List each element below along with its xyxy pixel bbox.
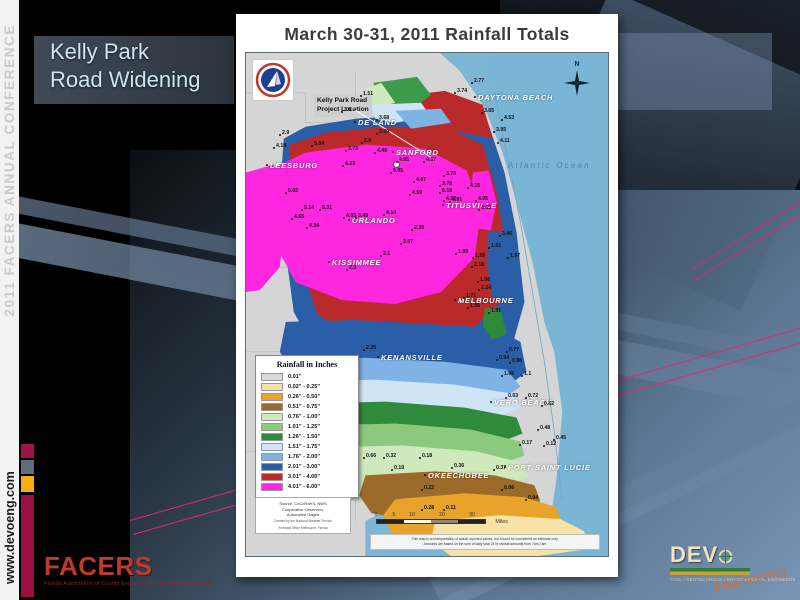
- station-dot: [477, 281, 479, 283]
- city-marker-dot: [442, 204, 444, 206]
- rainfall-value: 1.96: [480, 277, 490, 283]
- rainfall-value: 3.79: [446, 171, 456, 177]
- station-dot: [506, 351, 508, 353]
- scale-bar-graphic: [376, 519, 486, 524]
- station-dot: [346, 269, 348, 271]
- legend-row: 0.01": [261, 372, 353, 381]
- station-dot: [501, 375, 503, 377]
- station-dot: [411, 229, 413, 231]
- city-marker-dot: [454, 299, 456, 301]
- figure-title: March 30-31, 2011 Rainfall Totals: [245, 24, 609, 45]
- legend-swatch: [261, 403, 283, 411]
- rainfall-value: 1.06: [504, 371, 514, 377]
- legend-label: 0.26" - 0.50": [288, 394, 320, 400]
- disclaimer-line-2: Amounts are based on the sum of daily to…: [374, 542, 596, 547]
- legend-swatch: [261, 383, 283, 391]
- rainfall-value: 4.65: [294, 214, 304, 220]
- station-dot: [507, 257, 509, 259]
- rainfall-value: 0.66: [366, 453, 376, 459]
- station-dot: [391, 469, 393, 471]
- rainfall-value: 1.97: [510, 253, 520, 259]
- rail-accent-bar: [21, 495, 34, 597]
- station-dot: [454, 92, 456, 94]
- devo-logo: DEV CIVIL / GEOTECHNICAL / ENVIRONMENTAL…: [670, 544, 786, 590]
- rainfall-value: 0.32: [386, 453, 396, 459]
- station-dot: [443, 175, 445, 177]
- legend-row: 4.01" - 6.00": [261, 482, 353, 491]
- legend-row: 1.26" - 1.50": [261, 432, 353, 441]
- legend-label: 0.01": [288, 374, 302, 380]
- station-dot: [443, 509, 445, 511]
- station-dot: [285, 192, 287, 194]
- legend-swatch: [261, 423, 283, 431]
- legend-swatch: [261, 373, 283, 381]
- city-marker-dot: [348, 219, 350, 221]
- rainfall-value: 0.17: [522, 440, 532, 446]
- source-line-3: Automated Gages: [259, 512, 347, 517]
- rainfall-value: 0.62: [544, 401, 554, 407]
- rainfall-value: 0.48: [540, 425, 550, 431]
- station-dot: [279, 134, 281, 136]
- rainfall-value: 1.51: [363, 91, 373, 97]
- station-dot: [488, 247, 490, 249]
- legend-label: 2.01" - 3.00": [288, 464, 320, 470]
- compass-rose-icon: N: [560, 61, 594, 103]
- city-marker-dot: [392, 151, 394, 153]
- rainfall-value: 3.73: [348, 146, 358, 152]
- rainfall-value: 2.9: [282, 130, 289, 136]
- station-dot: [467, 307, 469, 309]
- station-dot: [421, 509, 423, 511]
- rail-swatch-amber: [21, 476, 34, 492]
- station-dot: [541, 405, 543, 407]
- rainfall-value: 4.15: [470, 183, 480, 189]
- legend-row: 0.76" - 1.00": [261, 412, 353, 421]
- station-dot: [501, 119, 503, 121]
- rainfall-value: 5.31: [322, 205, 332, 211]
- scale-tick: 5: [393, 512, 396, 518]
- facers-wordmark: FACERS: [44, 553, 212, 579]
- rainfall-value: 1.95: [475, 253, 485, 259]
- station-dot: [419, 457, 421, 459]
- station-dot: [451, 467, 453, 469]
- rainfall-value: 0.11: [446, 505, 456, 511]
- station-dot: [360, 95, 362, 97]
- station-dot: [471, 82, 473, 84]
- rainfall-value: 2.1: [383, 251, 390, 257]
- source-credit-2: Forecast Office Melbourne, Florida: [259, 526, 347, 530]
- legend-swatch: [261, 463, 283, 471]
- rainfall-value: 2.18: [474, 262, 484, 268]
- legend-label: 1.51" - 1.75": [288, 444, 320, 450]
- rainfall-value: 4.11: [500, 138, 510, 144]
- legend-label: 1.76" - 2.00": [288, 454, 320, 460]
- map-disclaimer: This map is an interpretation of actual …: [370, 534, 600, 550]
- rainfall-value: 3.78: [442, 181, 452, 187]
- legend-row: 0.02" - 0.25": [261, 382, 353, 391]
- station-dot: [301, 209, 303, 211]
- city-marker-dot: [377, 356, 379, 358]
- rainfall-value: 4.57: [426, 157, 436, 163]
- rainfall-value: 0.94: [499, 355, 509, 361]
- rainfall-value: 4.19: [276, 143, 286, 149]
- rainfall-value: 1.61: [491, 243, 501, 249]
- devo-wordmark-text: DEV: [670, 542, 718, 567]
- rainfall-value: 0.37: [496, 465, 506, 471]
- station-dot: [342, 165, 344, 167]
- legend-label: 4.01" - 6.00": [288, 484, 320, 490]
- rainfall-value: 4.05: [399, 157, 409, 163]
- station-dot: [443, 200, 445, 202]
- station-dot: [273, 147, 275, 149]
- station-dot: [525, 499, 527, 501]
- scale-tick: 10: [409, 512, 415, 518]
- station-dot: [345, 150, 347, 152]
- legend-swatch: [261, 433, 283, 441]
- station-dot: [355, 217, 357, 219]
- legend-row: 0.26" - 0.50": [261, 392, 353, 401]
- rainfall-value: 3.49: [358, 213, 368, 219]
- station-dot: [376, 133, 378, 135]
- station-dot: [499, 235, 501, 237]
- station-dot: [376, 119, 378, 121]
- rainfall-value: 4.34: [309, 223, 319, 229]
- rainfall-value: 4.53: [504, 115, 514, 121]
- rainfall-value: 3.59: [379, 129, 389, 135]
- station-dot: [383, 457, 385, 459]
- rainfall-value: 3.9: [364, 138, 371, 144]
- station-dot: [493, 131, 495, 133]
- rainfall-value: 4.23: [345, 161, 355, 167]
- city-marker-dot: [328, 261, 330, 263]
- scale-tick: 30: [469, 512, 475, 518]
- legend-rows: 0.01"0.02" - 0.25"0.26" - 0.50"0.51" - 0…: [261, 372, 353, 491]
- rainfall-value: 0.19: [394, 465, 404, 471]
- rainfall-value: 4.14: [386, 210, 396, 216]
- rainfall-value: 2.39: [414, 225, 424, 231]
- station-dot: [475, 200, 477, 202]
- legend-swatch: [261, 393, 283, 401]
- facers-subtitle: Florida Association of County Engineers …: [44, 581, 212, 587]
- station-dot: [509, 362, 511, 364]
- station-dot: [525, 397, 527, 399]
- legend-label: 1.01" - 1.25": [288, 424, 320, 430]
- station-dot: [481, 112, 483, 114]
- legend-swatch: [261, 413, 283, 421]
- rainfall-value: 0.45: [556, 435, 566, 441]
- station-dot: [463, 297, 465, 299]
- station-dot: [537, 429, 539, 431]
- rainfall-value: 1.99: [458, 249, 468, 255]
- rainfall-value: 0.04: [528, 495, 538, 501]
- legend-row: 3.01" - 4.00": [261, 472, 353, 481]
- rainfall-value: 3.95: [496, 127, 506, 133]
- city-label: PORT SAINT LUCIE: [508, 463, 591, 472]
- legend-label: 0.02" - 0.25": [288, 384, 320, 390]
- rail-swatch-gray: [21, 460, 34, 474]
- rainfall-value: 5.14: [304, 205, 314, 211]
- station-dot: [439, 192, 441, 194]
- station-dot: [467, 187, 469, 189]
- city-label: SANFORD: [396, 148, 439, 157]
- scale-segment-1: [377, 520, 404, 523]
- scale-segment-2: [404, 520, 431, 523]
- facers-logo: FACERS Florida Association of County Eng…: [44, 553, 212, 587]
- ocean-label: Atlantic Ocean: [508, 161, 591, 170]
- rainfall-value: 0.96: [512, 358, 522, 364]
- station-dot: [472, 257, 474, 259]
- legend-swatch: [261, 453, 283, 461]
- station-dot: [343, 217, 345, 219]
- rainfall-value: 3.65: [484, 108, 494, 114]
- station-dot: [505, 397, 507, 399]
- compass-north-label: N: [574, 61, 579, 68]
- station-dot: [521, 375, 523, 377]
- legend-row: 0.51" - 0.75": [261, 402, 353, 411]
- station-dot: [306, 227, 308, 229]
- station-dot: [519, 444, 521, 446]
- legend-swatch: [261, 443, 283, 451]
- rainfall-value: 0.06: [504, 485, 514, 491]
- station-dot: [409, 194, 411, 196]
- station-dot: [439, 185, 441, 187]
- map-canvas[interactable]: N Atlantic Ocean Kelly Park Road Project…: [245, 52, 609, 557]
- station-dot: [341, 111, 343, 113]
- city-label: KISSIMMEE: [332, 258, 381, 267]
- legend-label: 0.76" - 1.00": [288, 414, 320, 420]
- station-dot: [319, 209, 321, 211]
- rainfall-value: 1.1: [524, 371, 531, 377]
- rainfall-value: 0.22: [424, 485, 434, 491]
- city-marker-dot: [490, 401, 492, 403]
- station-dot: [383, 214, 385, 216]
- rainfall-value: 2.77: [474, 78, 484, 84]
- rainfall-value: 3.8: [344, 107, 351, 113]
- rainfall-value: 4.49: [377, 148, 387, 154]
- rainfall-value: 1.56: [470, 303, 480, 309]
- legend-row: 1.76" - 2.00": [261, 452, 353, 461]
- rainfall-value: 2.3: [349, 265, 356, 271]
- rainfall-value: 4.63: [481, 205, 491, 211]
- legend-row: 1.01" - 1.25": [261, 422, 353, 431]
- rainfall-value: 3.96: [502, 231, 512, 237]
- map-legend: Rainfall in Inches 0.01"0.02" - 0.25"0.2…: [255, 355, 359, 498]
- rainfall-value: 0.36: [454, 463, 464, 469]
- station-dot: [488, 312, 490, 314]
- station-dot: [421, 489, 423, 491]
- scale-tick: 0: [375, 512, 378, 518]
- legend-label: 1.26" - 1.50": [288, 434, 320, 440]
- website-label[interactable]: www.devoeng.com: [0, 406, 19, 586]
- rainfall-value: 0.12: [546, 441, 556, 447]
- rainfall-value: 0.18: [422, 453, 432, 459]
- rainfall-value: 0.63: [508, 393, 518, 399]
- station-dot: [390, 172, 392, 174]
- map-scale-bar: 05102030 Miles: [376, 512, 486, 524]
- station-dot: [311, 145, 313, 147]
- decorative-rectangle-upper-right: [609, 33, 772, 110]
- station-dot: [478, 289, 480, 291]
- rainfall-value: 5.05: [393, 168, 403, 174]
- rainfall-value: 0.72: [528, 393, 538, 399]
- station-dot: [400, 243, 402, 245]
- station-dot: [449, 201, 451, 203]
- station-dot: [291, 218, 293, 220]
- station-dot: [543, 445, 545, 447]
- rainfall-value: 1.91: [491, 308, 501, 314]
- rainfall-value: 3.74: [457, 88, 467, 94]
- station-dot: [455, 253, 457, 255]
- scale-segment-4: [458, 520, 485, 523]
- rainfall-value: 0.77: [509, 347, 519, 353]
- station-dot: [363, 457, 365, 459]
- station-dot: [361, 142, 363, 144]
- station-dot: [493, 469, 495, 471]
- station-dot: [501, 489, 503, 491]
- station-dot: [497, 142, 499, 144]
- legend-label: 3.01" - 4.00": [288, 474, 320, 480]
- rainfall-map-figure: March 30-31, 2011 Rainfall Totals: [236, 14, 618, 577]
- station-dot: [478, 209, 480, 211]
- station-dot: [380, 255, 382, 257]
- legend-row: 2.01" - 3.00": [261, 462, 353, 471]
- rainfall-value: 2.24: [481, 285, 491, 291]
- devo-globe-icon: [718, 544, 733, 566]
- rainfall-value: 3.68: [379, 115, 389, 121]
- city-marker-dot: [354, 121, 356, 123]
- city-label: DAYTONA BEACH: [478, 93, 553, 102]
- station-dot: [413, 181, 415, 183]
- presentation-slide: Kelly Park Road Widening 2011 FACERS ANN…: [0, 0, 800, 600]
- legend-row: 1.51" - 1.75": [261, 442, 353, 451]
- source-credit-1: Created by the National Weather Service: [259, 519, 347, 523]
- legend-label: 0.51" - 0.75": [288, 404, 320, 410]
- left-rail: 2011 FACERS ANNUAL CONFERENCE www.devoen…: [0, 0, 19, 600]
- conference-label: 2011 FACERS ANNUAL CONFERENCE: [0, 20, 19, 380]
- callout-line-1: Kelly Park Road: [317, 97, 369, 106]
- city-label: KENANSVILLE: [381, 353, 443, 362]
- city-label: OKEECHOBEE: [428, 471, 489, 480]
- station-dot: [423, 161, 425, 163]
- scale-segment-3: [431, 520, 458, 523]
- legend-swatch: [261, 473, 283, 481]
- rainfall-value: 2.25: [366, 345, 376, 351]
- scale-tick: 20: [439, 512, 445, 518]
- city-marker-dot: [424, 474, 426, 476]
- rail-swatch-crimson: [21, 444, 34, 458]
- scale-tick-labels: 05102030: [376, 512, 486, 519]
- city-marker-dot: [266, 164, 268, 166]
- station-dot: [471, 266, 473, 268]
- city-label: LEESBURG: [270, 161, 318, 170]
- scale-unit-label: Miles: [495, 519, 508, 525]
- legend-swatch: [261, 483, 283, 491]
- station-dot: [363, 349, 365, 351]
- rainfall-value: 4.91: [452, 197, 462, 203]
- station-dot: [374, 152, 376, 154]
- rainfall-value: 5.02: [288, 188, 298, 194]
- rainfall-value: 4.59: [412, 190, 422, 196]
- rainfall-value: 4.05: [478, 196, 488, 202]
- devo-wordmark: DEV: [670, 544, 786, 566]
- station-dot: [396, 161, 398, 163]
- nws-seal-icon: [252, 59, 294, 101]
- source-box: Source: CoCoRaHS, NWS Cooperative Observ…: [255, 497, 351, 534]
- station-dot: [496, 359, 498, 361]
- rainfall-value: 3.07: [403, 239, 413, 245]
- rainfall-value: 4.67: [416, 177, 426, 183]
- legend-title: Rainfall in Inches: [261, 360, 353, 369]
- rainfall-value: 5.04: [314, 141, 324, 147]
- rainfall-value: 5.18: [442, 188, 452, 194]
- rainfall-value: 1.71: [466, 293, 476, 299]
- rainfall-value: 0.28: [424, 505, 434, 511]
- city-marker-dot: [474, 96, 476, 98]
